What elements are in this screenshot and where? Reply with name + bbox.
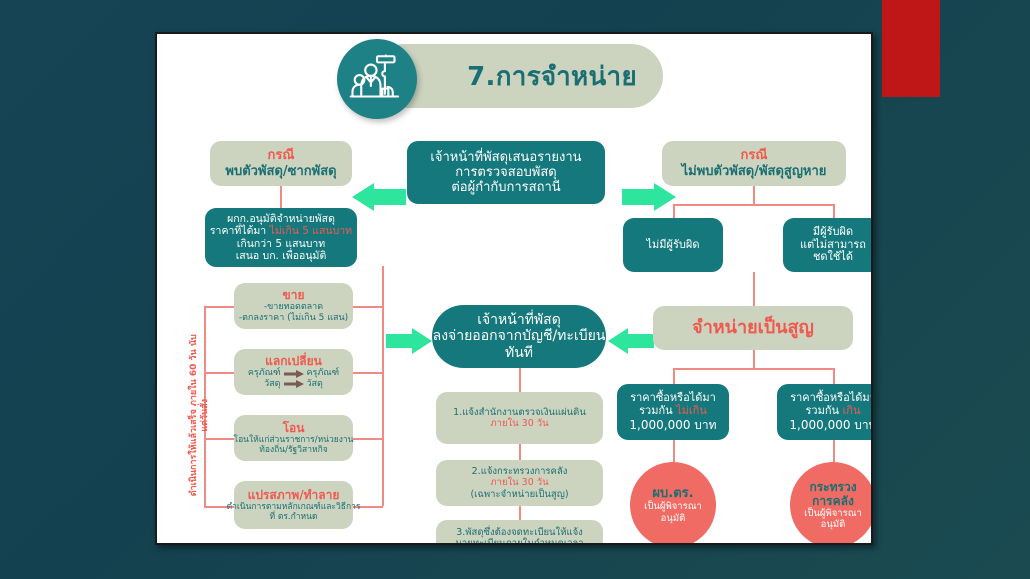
decorative-red-block bbox=[882, 0, 940, 97]
node-step-2-line-3: (เฉพาะจำหน่ายเป็นสูญ) bbox=[470, 489, 568, 500]
price-under-highlight: ไม่เกิน bbox=[676, 404, 707, 417]
connector-price-under-circle bbox=[673, 440, 675, 462]
node-no-liable-line-1: ไม่มีผู้รับผิด bbox=[647, 239, 700, 252]
approve-dispose-highlight: ไม่เกิน 5 แสนบาท bbox=[270, 225, 353, 237]
node-step-2-line-2: ภายใน 30 วัน bbox=[490, 477, 548, 488]
arrow-writeoff-to-officer bbox=[606, 327, 656, 355]
node-liable-line-1: มีผู้รับผิด bbox=[813, 226, 853, 239]
node-liable-line-3: ชดใช้ได้ bbox=[813, 251, 853, 264]
side-note-line-1: ดำเนินการให้แล้วเสร็จ bbox=[189, 409, 199, 496]
node-approve-dispose-line-4: เสนอ บก. เพื่ออนุมัติ bbox=[236, 250, 327, 262]
node-price-over-line-2: รวมกัน เกิน bbox=[806, 405, 861, 418]
price-over-highlight: เกิน bbox=[843, 404, 861, 417]
node-approver-police-heading: ผบ.ตร. bbox=[652, 486, 693, 501]
connector-notfound-right bbox=[833, 204, 835, 218]
connector-writeoff-left bbox=[673, 368, 675, 384]
connector-left-b1 bbox=[204, 306, 234, 308]
node-step-2: 2.แจ้งกระทรวงการคลัง ภายใน 30 วัน (เฉพาะ… bbox=[436, 460, 603, 506]
exchange-row2-left: วัสดุ bbox=[264, 379, 280, 390]
node-report-line-1: เจ้าหน้าที่พัสดุเสนอรายงาน bbox=[430, 150, 581, 165]
node-step-3-line-2: นายทะเบียนภายในกำหนดเวลา bbox=[455, 538, 583, 545]
node-approver-police-line-1: เป็นผู้พิจารณา bbox=[644, 501, 702, 512]
slide-canvas: 7.การจำหน่าย bbox=[155, 32, 873, 545]
node-write-off: จำหน่ายเป็นสูญ bbox=[653, 306, 853, 350]
node-price-under-line-3: 1,000,000 บาท bbox=[629, 418, 716, 432]
node-liable-cannot-pay: มีผู้รับผิด แต่ไม่สามารถ ชดใช้ได้ bbox=[783, 218, 873, 272]
node-transfer-line-1: โอนให้แก่ส่วนราชการ/หน่วยงาน bbox=[234, 435, 354, 445]
connector-step1-step2 bbox=[519, 444, 521, 460]
node-approver-finance-line-2: อนุมัติ bbox=[821, 519, 846, 530]
node-approver-finance-heading-1: กระทรวง bbox=[809, 480, 856, 494]
connector-officer-step1 bbox=[519, 368, 521, 392]
node-approver-police-line-2: อนุมัติ bbox=[661, 513, 686, 524]
price-over-prefix: รวมกัน bbox=[806, 404, 843, 417]
node-case-found: กรณี พบตัวพัสดุ/ซากพัสดุ bbox=[210, 141, 352, 186]
node-price-under-line-2: รวมกัน ไม่เกิน bbox=[639, 405, 707, 418]
node-price-over-line-3: 1,000,000 บาท bbox=[789, 418, 873, 432]
arrow-right-icon bbox=[284, 370, 304, 378]
node-approve-dispose: ผกก.อนุมัติจำหน่ายพัสดุ ราคาที่ได้มา ไม่… bbox=[205, 208, 357, 267]
side-note-duration: ดำเนินการให้แล้วเสร็จ ภายใน 60 วัน นับแต… bbox=[189, 330, 212, 500]
node-transfer-line-2: ท้องถิ่น/รัฐวิสาหกิจ bbox=[259, 445, 327, 455]
node-price-over: ราคาซื้อหรือได้มา รวมกัน เกิน 1,000,000 … bbox=[777, 384, 873, 440]
node-transfer: โอน โอนให้แก่ส่วนราชการ/หน่วยงาน ท้องถิ่… bbox=[234, 415, 353, 461]
connector-right-b1 bbox=[353, 306, 383, 308]
exchange-row1-right: ครุภัณฑ์ bbox=[307, 368, 340, 379]
node-case-found-line-1: พบตัวพัสดุ/ซากพัสดุ bbox=[225, 164, 336, 179]
node-report-line-3: ต่อผู้กำกับการสถานี bbox=[451, 180, 560, 195]
approve-dispose-prefix: ราคาที่ได้มา bbox=[210, 225, 270, 237]
node-step-3-line-1: 3.พัสดุซึ่งต้องจดทะเบียนให้แจ้ง bbox=[456, 527, 583, 538]
exchange-row1-left: ครุภัณฑ์ bbox=[248, 368, 281, 379]
connector-right-b3 bbox=[353, 438, 383, 440]
node-approver-finance: กระทรวง การคลัง เป็นผู้พิจารณา อนุมัติ bbox=[790, 462, 873, 545]
connector-step2-step3 bbox=[519, 506, 521, 520]
node-convert-line-1: ดำเนินการตามหลักเกณฑ์และวิธีการ bbox=[227, 502, 361, 512]
connector-writeoff-h bbox=[673, 368, 835, 370]
node-case-not-found-heading: กรณี bbox=[741, 148, 768, 163]
connector-writeoff-down bbox=[753, 350, 755, 368]
node-step-1-line-2: ภายใน 30 วัน bbox=[490, 418, 548, 429]
page-title: 7.การจำหน่าย bbox=[467, 56, 637, 97]
node-exchange-row-1: ครุภัณฑ์ ครุภัณฑ์ bbox=[248, 368, 339, 379]
arrow-options-to-officer bbox=[384, 327, 434, 355]
node-report: เจ้าหน้าที่พัสดุเสนอรายงาน การตรวจสอบพัส… bbox=[407, 141, 605, 204]
node-step-1-line-1: 1.แจ้งสำนักงานตรวจเงินแผ่นดิน bbox=[453, 407, 586, 418]
auction-gavel-people-icon bbox=[337, 39, 417, 119]
connector-notfound-h bbox=[673, 204, 835, 206]
node-sell-line-2: -ตกลงราคา (ไม่เกิน 5 แสน) bbox=[239, 313, 348, 324]
node-approver-police: ผบ.ตร. เป็นผู้พิจารณา อนุมัติ bbox=[630, 462, 716, 545]
arrow-report-to-found bbox=[350, 182, 408, 212]
node-officer-record-line-3: ทันที bbox=[505, 345, 533, 362]
node-price-under: ราคาซื้อหรือได้มา รวมกัน ไม่เกิน 1,000,0… bbox=[617, 384, 729, 440]
connector-price-over-circle bbox=[833, 440, 835, 462]
connector-right-b2 bbox=[353, 372, 383, 374]
node-exchange-heading: แลกเปลี่ยน bbox=[265, 354, 322, 368]
connector-notfound-down bbox=[753, 186, 755, 204]
connector-writeoff-right bbox=[833, 368, 835, 384]
node-sell: ขาย -ขายทอดตลาด -ตกลงราคา (ไม่เกิน 5 แสน… bbox=[234, 283, 353, 329]
node-approve-dispose-line-2: ราคาที่ได้มา ไม่เกิน 5 แสนบาท bbox=[210, 225, 352, 237]
connector-found-approve bbox=[280, 186, 282, 208]
arrow-report-to-notfound bbox=[620, 182, 678, 212]
exchange-row2-right: วัสดุ bbox=[307, 379, 323, 390]
node-no-liable: ไม่มีผู้รับผิด bbox=[623, 218, 723, 272]
node-officer-record-line-2: ลงจ่ายออกจากบัญชี/ทะเบียน bbox=[433, 328, 606, 345]
node-case-not-found: กรณี ไม่พบตัวพัสดุ/พัสดุสูญหาย bbox=[662, 141, 846, 186]
price-under-prefix: รวมกัน bbox=[639, 404, 676, 417]
node-case-found-heading: กรณี bbox=[268, 148, 295, 163]
node-approver-finance-line-1: เป็นผู้พิจารณา bbox=[804, 508, 862, 519]
node-exchange-row-2: วัสดุ วัสดุ bbox=[264, 379, 323, 390]
node-step-2-line-1: 2.แจ้งกระทรวงการคลัง bbox=[472, 466, 568, 477]
node-approve-dispose-line-3: เกินกว่า 5 แสนบาท bbox=[237, 238, 325, 250]
connector-liable-writeoff bbox=[753, 272, 755, 308]
node-step-3: 3.พัสดุซึ่งต้องจดทะเบียนให้แจ้ง นายทะเบี… bbox=[436, 520, 603, 545]
node-report-line-2: การตรวจสอบพัสดุ bbox=[455, 165, 556, 180]
arrow-right-icon bbox=[284, 380, 304, 388]
node-sell-heading: ขาย bbox=[283, 288, 305, 302]
node-sell-line-1: -ขายทอดตลาด bbox=[264, 302, 323, 313]
node-convert-line-2: ที่ ตร.กำหนด bbox=[270, 512, 318, 522]
node-officer-record-line-1: เจ้าหน้าที่พัสดุ bbox=[477, 312, 561, 329]
node-write-off-heading: จำหน่ายเป็นสูญ bbox=[692, 317, 814, 338]
node-case-not-found-line-1: ไม่พบตัวพัสดุ/พัสดุสูญหาย bbox=[682, 164, 827, 179]
node-convert-heading: แปรสภาพ/ทำลาย bbox=[248, 488, 340, 502]
node-transfer-heading: โอน bbox=[283, 421, 305, 435]
node-officer-record: เจ้าหน้าที่พัสดุ ลงจ่ายออกจากบัญชี/ทะเบี… bbox=[432, 305, 606, 368]
node-approve-dispose-line-1: ผกก.อนุมัติจำหน่ายพัสดุ bbox=[227, 213, 335, 225]
node-exchange: แลกเปลี่ยน ครุภัณฑ์ ครุภัณฑ์ วัสดุ วัสดุ bbox=[234, 349, 353, 395]
node-approver-finance-heading-2: การคลัง bbox=[812, 494, 854, 508]
node-convert-destroy: แปรสภาพ/ทำลาย ดำเนินการตามหลักเกณฑ์และวิ… bbox=[234, 481, 353, 529]
node-step-1: 1.แจ้งสำนักงานตรวจเงินแผ่นดิน ภายใน 30 ว… bbox=[436, 392, 603, 444]
